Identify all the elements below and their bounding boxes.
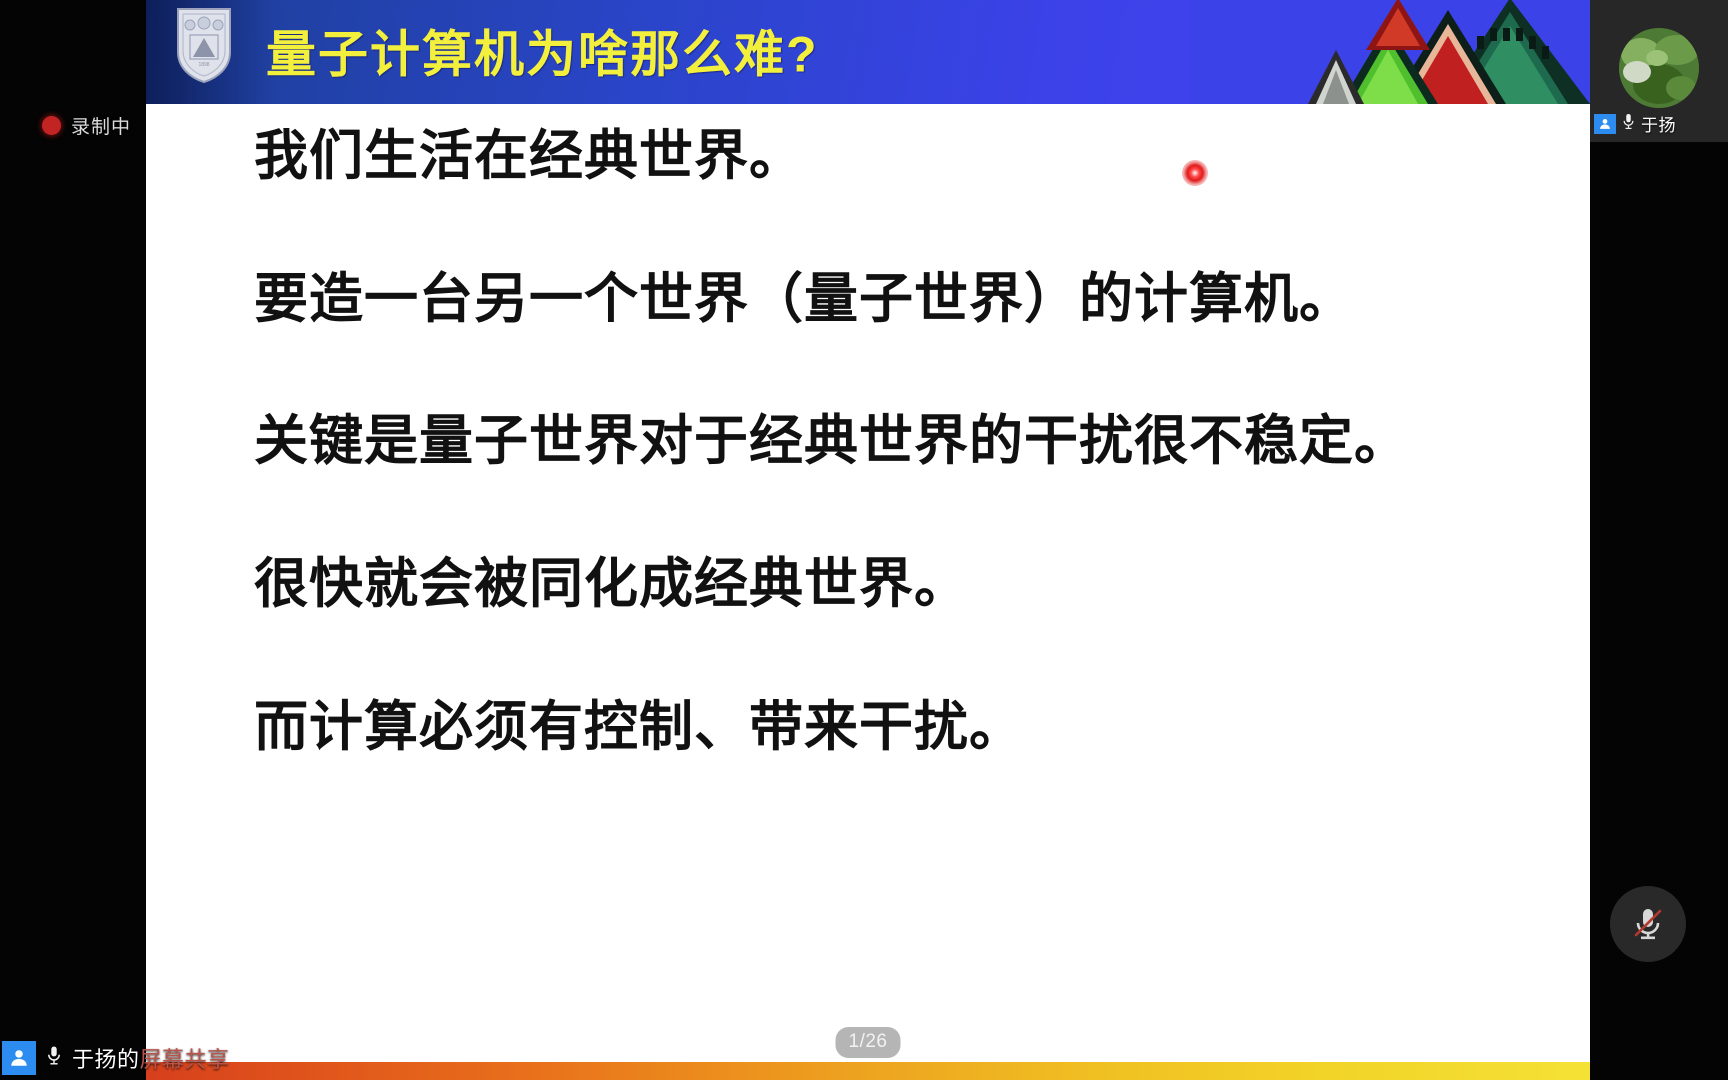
laser-pointer-dot: [1182, 160, 1208, 186]
participant-video-tile[interactable]: 于扬: [1590, 0, 1728, 142]
person-icon: [2, 1041, 36, 1075]
screen-share-label: 于扬的屏幕共享: [72, 1042, 230, 1074]
svg-text:1898: 1898: [198, 62, 209, 68]
participant-video-avatar: [1619, 28, 1699, 108]
slide-title: 量子计算机为啥那么难?: [266, 15, 819, 87]
recording-dot-icon: [42, 116, 61, 135]
slide-line: 我们生活在经典世界。: [254, 128, 1550, 185]
letterbox-left: [0, 0, 146, 1080]
recording-label: 录制中: [71, 112, 131, 139]
slide-line: 很快就会被同化成经典世界。: [254, 556, 1550, 613]
shared-slide: 1898 量子计算机为啥那么难?: [146, 0, 1590, 1080]
zoom-meeting-screen: 录制中 1898 量子计算机为啥那么难?: [0, 0, 1728, 1080]
microphone-icon: [1621, 112, 1636, 136]
slide-banner: 1898 量子计算机为啥那么难?: [146, 0, 1590, 104]
screen-share-suffix: 屏幕共享: [140, 1047, 230, 1072]
screen-share-owner: 于扬的: [72, 1047, 140, 1072]
slide-line: 要造一台另一个世界（量子世界）的计算机。: [254, 271, 1550, 328]
page-indicator: 1/26: [836, 1027, 901, 1058]
person-icon: [1594, 114, 1616, 134]
slide-line: 关键是量子世界对于经典世界的干扰很不稳定。: [254, 413, 1550, 470]
recording-indicator: 录制中: [42, 112, 131, 139]
slide-line: 而计算必须有控制、带来干扰。: [254, 699, 1550, 756]
screen-share-banner: 于扬的屏幕共享: [0, 1036, 230, 1080]
chinese-temple-photo: [1190, 0, 1590, 104]
participant-name: 于扬: [1641, 111, 1676, 136]
participant-footer: 于扬: [1590, 111, 1676, 136]
slide-body: 我们生活在经典世界。 要造一台另一个世界（量子世界）的计算机。 关键是量子世界对…: [254, 128, 1550, 755]
university-crest-icon: 1898: [175, 6, 233, 84]
microphone-muted-icon: [1631, 905, 1665, 943]
mute-microphone-button[interactable]: [1610, 886, 1686, 962]
microphone-icon: [45, 1044, 63, 1072]
slide-bottom-gradient-strip: [146, 1062, 1590, 1080]
